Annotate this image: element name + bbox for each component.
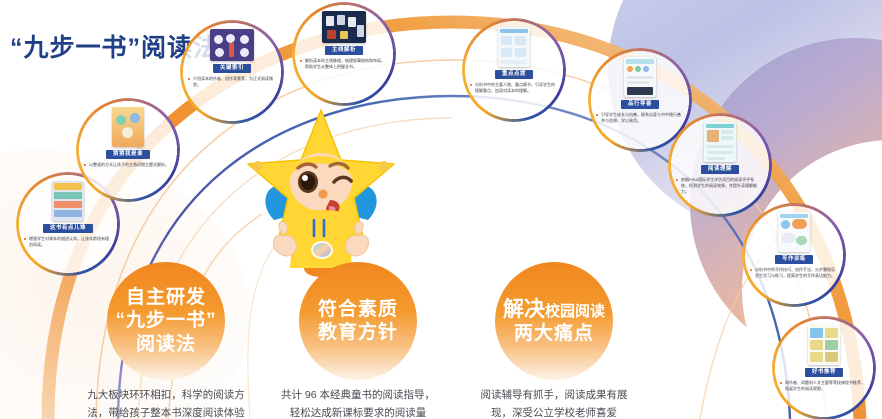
node-description: 分析书中的主要人物、重点情节，引导学生的理解重点，加深对读本的理解。 — [472, 82, 556, 94]
pillar-heading-line3: 阅读法 — [136, 333, 196, 356]
node-inner: 写作训练 分析书中的写作技巧、创作手法，分步骤指导学生学习与练习，提高学生的写作… — [745, 206, 843, 304]
node-label: 这书有点儿难 — [43, 224, 93, 233]
node-description: 以整速的方式让孩子的主角初期主题式解析。 — [86, 162, 170, 168]
pillar-heading-line1: 符合素质 — [318, 298, 398, 321]
pillar-body: 阅读辅导有抓手，阅读成果有展现，深受公立学校老师喜爱 — [458, 386, 650, 419]
pillar-circle: 符合素质 教育方针 — [299, 262, 417, 380]
pillar-body: 九大板块环环相扣，科学的阅读方法，带给孩子整本书深度阅读体验 — [70, 386, 262, 419]
pillar-circle: 自主研发 “九步一书” 阅读法 — [107, 262, 225, 380]
node-inner: 主线解析 解析读本的主线脉络，梳理叙事结构和布局，帮助学生从整体上把握全书。 — [295, 5, 393, 103]
thumbnail-image — [210, 29, 254, 61]
pillar-heading-line1: 自主研发 — [126, 286, 206, 309]
node-description: 解析读本的主线脉络，梳理叙事结构和布局，帮助学生从整体上把握全书。 — [302, 58, 386, 70]
step-node[interactable]: 重点点拨 分析书中的主要人物、重点情节，引导学生的理解重点，加深对读本的理解。 — [462, 18, 566, 122]
thumbnail-image — [498, 27, 530, 67]
thumbnail-image — [52, 181, 84, 221]
pillar-block: 解决 校园阅读 两大痛点 阅读辅导有抓手，阅读成果有展现，深受公立学校老师喜爱 — [458, 262, 650, 419]
node-label: 主线解析 — [325, 46, 363, 55]
pillar-heading-line2: 教育方针 — [318, 321, 398, 344]
node-label: 猜猜我是谁 — [106, 150, 150, 159]
step-node[interactable]: 猜猜我是谁 以整速的方式让孩子的主角初期主题式解析。 — [76, 98, 180, 202]
node-label: 好书推荐 — [805, 368, 843, 377]
step-node[interactable]: 写作训练 分析书中的写作技巧、创作手法，分步骤指导学生学习与练习，提高学生的写作… — [742, 203, 846, 307]
node-inner: 关键索引 介绍读本的作者、创作背景等，为正式阅读铺垫。 — [183, 23, 281, 121]
node-inner: 阅读理解 依据PISA国际学生评估项目的阅读评评系统，检测学生的阅读效果，并提升… — [671, 116, 769, 214]
thumbnail-image — [322, 11, 366, 43]
node-description: 依据PISA国际学生评估项目的阅读评评系统，检测学生的阅读效果，并提升读理解能力… — [678, 177, 762, 195]
step-node[interactable]: 阅读理解 依据PISA国际学生评估项目的阅读评评系统，检测学生的阅读效果，并提升… — [668, 113, 772, 217]
step-node[interactable]: 主线解析 解析读本的主线脉络，梳理叙事结构和布局，帮助学生从整体上把握全书。 — [292, 2, 396, 106]
node-label: 阅读理解 — [701, 165, 739, 174]
node-description: 引导学生成长与向善，联系自身与书中践行善举与思想，学以致用。 — [598, 112, 682, 124]
node-label: 重点点拨 — [495, 70, 533, 79]
node-label: 关键索引 — [213, 64, 251, 73]
star-hood-mascot — [246, 108, 396, 283]
node-description: 分析书中的写作技巧、创作手法，分步骤指导学生学习与练习，提高学生的写作表达能力。 — [752, 267, 836, 279]
pillar-body: 共计 96 本经典童书的阅读指导，轻松达成新课标要求的阅读量 — [262, 386, 454, 419]
pillar-heading-line2: 两大痛点 — [514, 322, 594, 345]
node-inner: 重点点拨 分析书中的主要人物、重点情节，引导学生的理解重点，加深对读本的理解。 — [465, 21, 563, 119]
thumbnail-image — [624, 57, 656, 97]
thumbnail-image — [778, 212, 810, 252]
thumbnail-image — [808, 325, 840, 365]
pillar-heading-line2: “九步一书” — [115, 309, 216, 332]
infographic-canvas: “九步一书”阅读法 这书有点儿难 增强学生对课本的描述认知，让该年龄段有理由同读… — [0, 0, 882, 419]
node-label: 品行导善 — [621, 100, 659, 109]
node-description: 增强学生对课本的描述认知，让该年龄段有理由同读。 — [26, 236, 110, 248]
pillar-heading-emphasis: 解决 — [503, 297, 545, 323]
pillar-circle: 解决 校园阅读 两大痛点 — [495, 262, 613, 380]
thumbnail-image — [704, 122, 736, 162]
node-inner: 猜猜我是谁 以整速的方式让孩子的主角初期主题式解析。 — [79, 101, 177, 199]
pillar-block: 自主研发 “九步一书” 阅读法 九大板块环环相扣，科学的阅读方法，带给孩子整本书… — [70, 262, 262, 419]
node-description: 介绍读本的作者、创作背景等，为正式阅读铺垫。 — [190, 76, 274, 88]
pillar-block: 符合素质 教育方针 共计 96 本经典童书的阅读指导，轻松达成新课标要求的阅读量 — [262, 262, 454, 419]
pillar-heading-line1-rest: 校园阅读 — [545, 303, 605, 321]
node-label: 写作训练 — [775, 255, 813, 264]
node-inner: 品行导善 引导学生成长与向善，联系自身与书中践行善举与思想，学以致用。 — [591, 51, 689, 149]
thumbnail-image — [112, 107, 144, 147]
node-description: 同作者、同题材人文主题等等校课程书推荐，拓展学生的阅读视野。 — [782, 380, 866, 392]
step-node[interactable]: 好书推荐 同作者、同题材人文主题等等校课程书推荐，拓展学生的阅读视野。 — [772, 316, 876, 419]
node-inner: 好书推荐 同作者、同题材人文主题等等校课程书推荐，拓展学生的阅读视野。 — [775, 319, 873, 417]
